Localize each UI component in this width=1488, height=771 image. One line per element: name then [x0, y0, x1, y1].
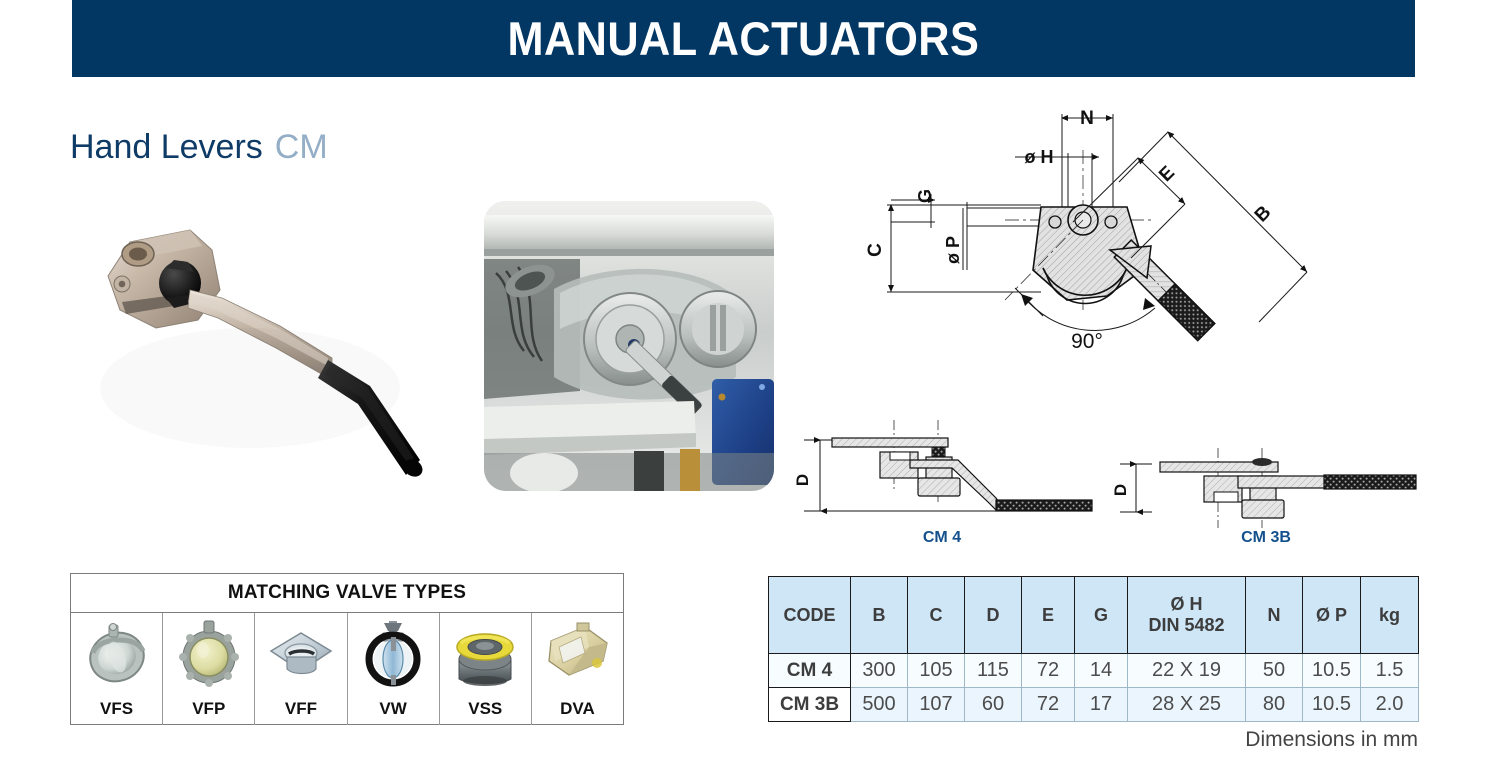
dimension-table-container: CODE B C D E G Ø H DIN 5482 N Ø P kg CM …: [768, 576, 1418, 722]
valve-type-vfp[interactable]: VFP: [163, 613, 255, 725]
cm3b-caption: CM 3B: [1241, 529, 1291, 546]
valve-type-label: VSS: [440, 699, 531, 719]
valve-vw-icon: [357, 617, 429, 689]
valve-type-label: VFF: [255, 699, 346, 719]
valve-vfs-icon: [81, 617, 153, 689]
cell-op: 10.5: [1303, 654, 1361, 688]
valve-type-dva[interactable]: DVA: [532, 613, 623, 725]
cell-c: 105: [908, 654, 965, 688]
cm4-caption: CM 4: [923, 529, 961, 546]
cell-g: 17: [1075, 688, 1128, 722]
col-header-n: N: [1246, 577, 1303, 654]
valve-type-vfs[interactable]: VFS: [71, 613, 163, 725]
matching-valve-types-box: MATCHING VALVE TYPES VFS: [70, 573, 624, 725]
col-header-e: E: [1022, 577, 1075, 654]
section-heading: Hand LeversCM: [70, 128, 328, 167]
col-header-code: CODE: [769, 577, 851, 654]
cell-n: 80: [1246, 688, 1303, 722]
valve-types-row: VFS VFP: [71, 613, 623, 725]
cm3b-dim-label-D: D: [1111, 484, 1130, 496]
valve-vss-icon: [449, 617, 521, 689]
dimension-table: CODE B C D E G Ø H DIN 5482 N Ø P kg CM …: [768, 576, 1419, 722]
cm3b-side-view-drawing: CM 3B D: [1110, 420, 1430, 550]
valve-type-vw[interactable]: VW: [348, 613, 440, 725]
valve-vfp-icon: [173, 617, 245, 689]
valve-dva-icon: [541, 617, 613, 689]
dim-label-C: C: [865, 243, 886, 257]
page-header-banner: MANUAL ACTUATORS: [72, 0, 1415, 77]
valve-type-label: VFS: [71, 699, 162, 719]
valve-type-label: VW: [348, 699, 439, 719]
col-header-c: C: [908, 577, 965, 654]
cell-oh: 28 X 25: [1128, 688, 1246, 722]
page-title: MANUAL ACTUATORS: [508, 11, 980, 66]
dim-label-N: N: [1080, 108, 1094, 129]
table-row: CM 3B 500 107 60 72 17 28 X 25 80 10.5 2…: [769, 688, 1419, 722]
cm4-dim-label-D: D: [793, 474, 812, 486]
section-heading-text: Hand Levers: [70, 128, 263, 166]
valve-type-vss[interactable]: VSS: [440, 613, 532, 725]
section-heading-code: CM: [275, 128, 328, 166]
cm4-side-view-drawing: CM 4 D: [790, 420, 1110, 550]
cm-dimension-drawing: N ø H G C ø P E B 90°: [855, 100, 1315, 430]
cell-c: 107: [908, 688, 965, 722]
cell-n: 50: [1246, 654, 1303, 688]
installation-photo: [484, 201, 774, 491]
dim-label-oP: ø P: [943, 236, 963, 264]
valve-vff-icon: [265, 617, 337, 689]
cell-oh: 22 X 19: [1128, 654, 1246, 688]
valve-type-label: VFP: [163, 699, 254, 719]
cell-d: 60: [965, 688, 1022, 722]
col-header-oh-din: Ø H DIN 5482: [1128, 577, 1246, 654]
hand-lever-product-photo: [70, 198, 468, 503]
dimensions-note: Dimensions in mm: [768, 728, 1418, 752]
cell-code: CM 3B: [769, 688, 851, 722]
cell-e: 72: [1022, 654, 1075, 688]
cell-kg: 1.5: [1361, 654, 1419, 688]
cell-kg: 2.0: [1361, 688, 1419, 722]
dim-label-oH: ø H: [1025, 147, 1054, 167]
dim-label-G: G: [915, 189, 935, 203]
cell-e: 72: [1022, 688, 1075, 722]
matching-valve-types-title: MATCHING VALVE TYPES: [71, 574, 623, 613]
col-header-d: D: [965, 577, 1022, 654]
cell-code: CM 4: [769, 654, 851, 688]
cell-op: 10.5: [1303, 688, 1361, 722]
col-header-g: G: [1075, 577, 1128, 654]
cell-d: 115: [965, 654, 1022, 688]
col-header-b: B: [851, 577, 908, 654]
table-row: CM 4 300 105 115 72 14 22 X 19 50 10.5 1…: [769, 654, 1419, 688]
valve-type-vff[interactable]: VFF: [255, 613, 347, 725]
col-header-kg: kg: [1361, 577, 1419, 654]
cell-g: 14: [1075, 654, 1128, 688]
dim-label-angle: 90°: [1071, 330, 1103, 353]
valve-type-label: DVA: [532, 699, 623, 719]
cell-b: 500: [851, 688, 908, 722]
col-header-op: Ø P: [1303, 577, 1361, 654]
cell-b: 300: [851, 654, 908, 688]
table-header-row: CODE B C D E G Ø H DIN 5482 N Ø P kg: [769, 577, 1419, 654]
